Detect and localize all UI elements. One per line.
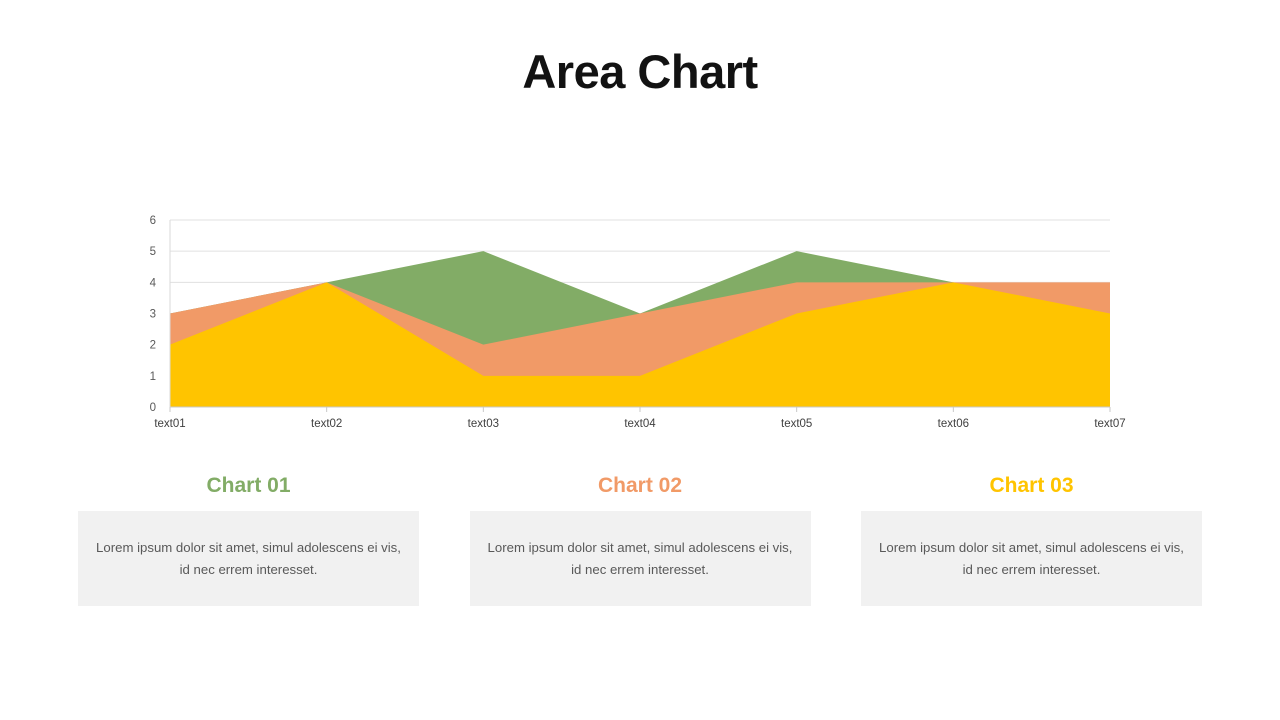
legend-card-chart-02: Chart 02 Lorem ipsum dolor sit amet, sim…: [470, 473, 811, 613]
y-axis-tick-label: 5: [150, 246, 156, 258]
x-axis-tick-label: text05: [781, 418, 812, 430]
x-axis-tick-label: text03: [468, 418, 499, 430]
legend-card-heading: Chart 02: [470, 473, 811, 498]
y-axis-tick-label: 1: [150, 371, 156, 383]
y-axis-tick-labels: 0123456: [150, 215, 157, 414]
x-axis-tick-label: text01: [154, 418, 185, 430]
legend-card-text: Lorem ipsum dolor sit amet, simul adoles…: [488, 537, 793, 580]
legend-card-body: Lorem ipsum dolor sit amet, simul adoles…: [470, 511, 811, 606]
legend-card-text: Lorem ipsum dolor sit amet, simul adoles…: [96, 537, 401, 580]
legend-card-body: Lorem ipsum dolor sit amet, simul adoles…: [78, 511, 419, 606]
x-axis-tick-label: text07: [1094, 418, 1125, 430]
area-chart: 0123456 text01text02text03text04text05te…: [0, 205, 1280, 440]
x-axis: [170, 407, 1110, 412]
x-axis-tick-label: text04: [624, 418, 656, 430]
page-title: Area Chart: [0, 45, 1280, 99]
legend-card-chart-01: Chart 01 Lorem ipsum dolor sit amet, sim…: [78, 473, 419, 613]
y-axis-tick-label: 3: [150, 309, 156, 321]
area-series-group: [170, 251, 1110, 407]
legend-card-heading: Chart 01: [78, 473, 419, 498]
x-axis-tick-label: text06: [938, 418, 969, 430]
y-axis-tick-label: 0: [150, 402, 156, 414]
x-axis-tick-label: text02: [311, 418, 342, 430]
y-axis-tick-label: 2: [150, 340, 156, 352]
x-axis-tick-labels: text01text02text03text04text05text06text…: [154, 418, 1125, 430]
legend-cards-row: Chart 01 Lorem ipsum dolor sit amet, sim…: [78, 473, 1202, 613]
area-chart-canvas: 0123456 text01text02text03text04text05te…: [0, 205, 1280, 440]
legend-card-text: Lorem ipsum dolor sit amet, simul adoles…: [879, 537, 1184, 580]
legend-card-heading: Chart 03: [861, 473, 1202, 498]
y-axis-tick-label: 6: [150, 215, 156, 227]
legend-card-chart-03: Chart 03 Lorem ipsum dolor sit amet, sim…: [861, 473, 1202, 613]
y-axis-tick-label: 4: [150, 277, 157, 289]
legend-card-body: Lorem ipsum dolor sit amet, simul adoles…: [861, 511, 1202, 606]
